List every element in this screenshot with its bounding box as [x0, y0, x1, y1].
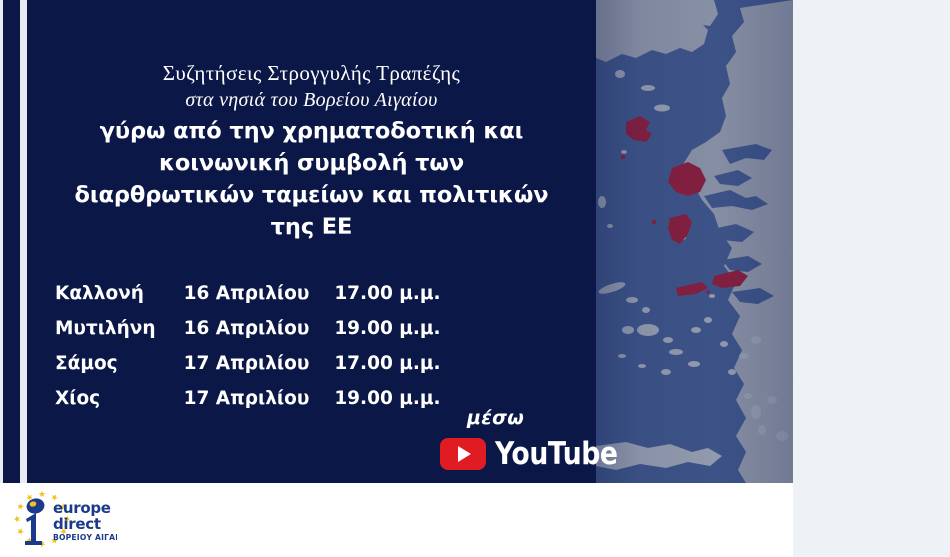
schedule-date: 16 Απριλίου [184, 311, 335, 346]
schedule-time: 17.00 μ.μ. [334, 276, 475, 311]
table-row: Χίος 17 Απριλίου 19.00 μ.μ. [55, 381, 475, 416]
headline-line-3: διαρθρωτικών ταμείων και πολιτικών [49, 179, 574, 211]
schedule-place: Μυτιλήνη [55, 311, 184, 346]
poster-text-content: Συζητήσεις Στρογγυλής Τραπέζης στα νησιά… [27, 0, 596, 483]
poster-title-line-2: στα νησιά του Βορείου Αιγαίου [27, 87, 596, 113]
schedule-place: Χίος [55, 381, 184, 416]
event-schedule-table: Καλλονή 16 Απριλίου 17.00 μ.μ. Μυτιλήνη … [55, 276, 475, 416]
page-right-background [793, 0, 950, 557]
left-stripe-inner-gap [20, 0, 27, 483]
europe-direct-logo-svg: europe direct ΒΟΡΕΙΟΥ ΑΙΓΑΙΟΥ [12, 489, 117, 551]
youtube-play-icon [440, 438, 486, 470]
europe-direct-logo: europe direct ΒΟΡΕΙΟΥ ΑΙΓΑΙΟΥ [12, 489, 117, 551]
headline-line-4: της ΕΕ [49, 211, 574, 243]
schedule-time: 19.00 μ.μ. [334, 381, 475, 416]
youtube-wordmark: YouTube [495, 436, 618, 472]
schedule-time: 19.00 μ.μ. [334, 311, 475, 346]
poster-page: Συζητήσεις Στρογγυλής Τραπέζης στα νησιά… [0, 0, 950, 557]
table-row: Σάμος 17 Απριλίου 17.00 μ.μ. [55, 346, 475, 381]
youtube-logo: YouTube [440, 436, 638, 472]
broadcast-via-label: μέσω [467, 407, 524, 429]
headline-line-1: γύρω από την χρηματοδοτική και [49, 115, 574, 147]
play-triangle-icon [458, 446, 471, 462]
schedule-date: 17 Απριλίου [184, 346, 335, 381]
headline-line-2: κοινωνική συμβολή των [49, 147, 574, 179]
schedule-date: 16 Απριλίου [184, 276, 335, 311]
aegean-map [596, 0, 793, 483]
europe-direct-mark-icon [25, 497, 46, 545]
left-stripe-bar [3, 0, 20, 483]
schedule-date: 17 Απριλίου [184, 381, 335, 416]
schedule-place: Σάμος [55, 346, 184, 381]
poster-headline: γύρω από την χρηματοδοτική και κοινωνική… [49, 115, 574, 243]
poster-graphic: Συζητήσεις Στρογγυλής Τραπέζης στα νησιά… [0, 0, 793, 483]
poster-title-line-1: Συζητήσεις Στρογγυλής Τραπέζης [27, 60, 596, 86]
aegean-map-svg [596, 0, 793, 483]
table-row: Μυτιλήνη 16 Απριλίου 19.00 μ.μ. [55, 311, 475, 346]
schedule-place: Καλλονή [55, 276, 184, 311]
logo-word-direct: direct [53, 515, 101, 533]
logo-word-region: ΒΟΡΕΙΟΥ ΑΙΓΑΙΟΥ [53, 533, 117, 542]
table-row: Καλλονή 16 Απριλίου 17.00 μ.μ. [55, 276, 475, 311]
schedule-time: 17.00 μ.μ. [334, 346, 475, 381]
